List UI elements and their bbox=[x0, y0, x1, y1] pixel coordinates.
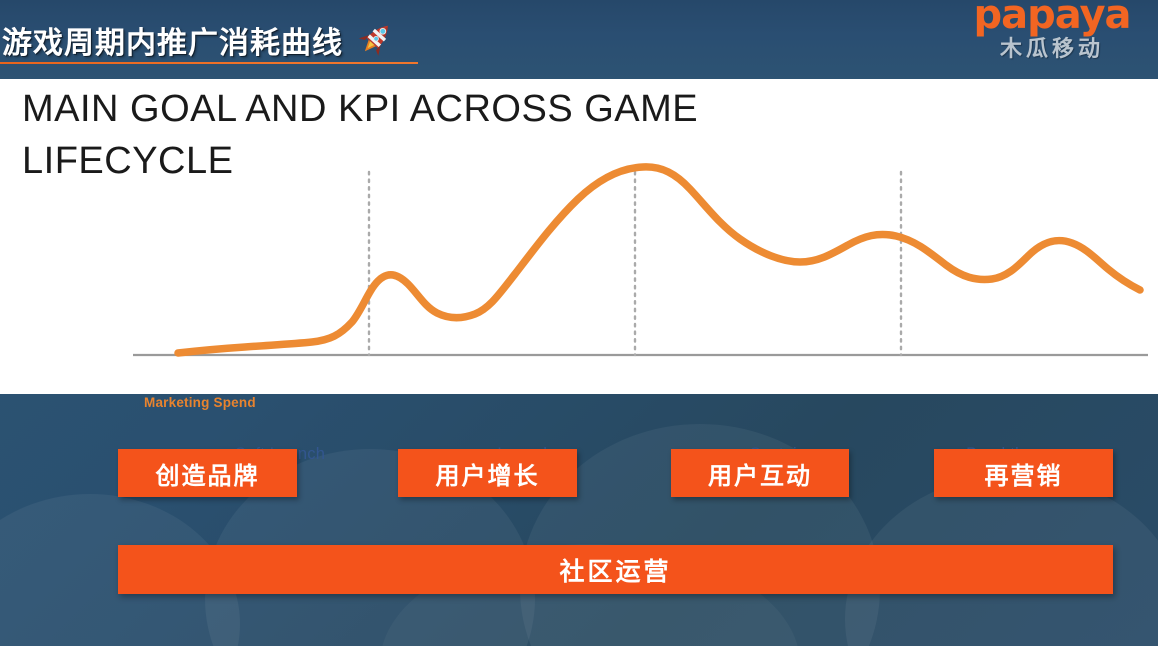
background-decoration bbox=[0, 394, 1158, 646]
header-bar: 游戏周期内推广消耗曲线 papaya 木瓜移动 bbox=[0, 0, 1158, 81]
callout-box-label: 用户增长 bbox=[436, 456, 540, 491]
wide-box-label: 社区运营 bbox=[559, 552, 671, 588]
callout-box-label: 创造品牌 bbox=[156, 456, 260, 491]
papaya-logo: papaya 木瓜移动 bbox=[952, 0, 1152, 64]
logo-brand-cn-text: 木瓜移动 bbox=[952, 36, 1152, 64]
header-title-group: 游戏周期内推广消耗曲线 bbox=[2, 18, 397, 62]
callout-box-label: 用户互动 bbox=[708, 456, 812, 491]
callout-box-brand[interactable]: 创造品牌 bbox=[118, 449, 297, 497]
chart-panel: MAIN GOAL AND KPI ACROSS GAME LIFECYCLE … bbox=[0, 79, 1158, 394]
lifecycle-spend-chart bbox=[0, 79, 1158, 394]
callout-box-user-growth[interactable]: 用户增长 bbox=[398, 449, 577, 497]
callout-box-community-operations[interactable]: 社区运营 bbox=[118, 545, 1113, 594]
marketing-spend-label: Marketing Spend bbox=[144, 395, 256, 410]
callout-box-user-engagement[interactable]: 用户互动 bbox=[671, 449, 849, 497]
callout-box-label: 再营销 bbox=[985, 456, 1063, 491]
rocket-icon bbox=[353, 18, 397, 62]
marketing-spend-curve bbox=[178, 167, 1140, 353]
callout-box-row: 创造品牌 用户增长 用户互动 再营销 bbox=[0, 449, 1158, 497]
page-title: 游戏周期内推广消耗曲线 bbox=[2, 18, 343, 62]
logo-brand-text: papaya bbox=[952, 0, 1152, 36]
slide-root: 游戏周期内推广消耗曲线 papaya 木瓜移动 bbox=[0, 0, 1158, 646]
callout-box-remarketing[interactable]: 再营销 bbox=[934, 449, 1113, 497]
header-accent-underline bbox=[0, 62, 418, 64]
